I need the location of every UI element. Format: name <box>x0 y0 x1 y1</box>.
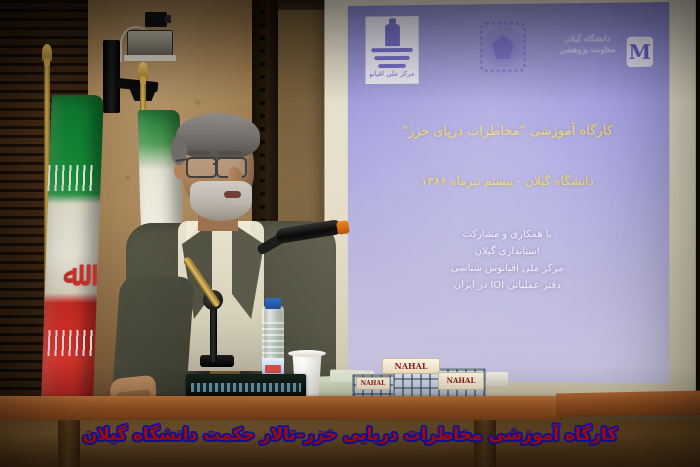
flag-finial <box>42 44 52 62</box>
microphone-tip <box>336 220 350 235</box>
glasses-lens-left <box>186 157 217 178</box>
table-top-right-section <box>556 390 700 417</box>
oceanography-logo-caption: مرکز ملی اقیانوس شناسی <box>369 68 414 81</box>
projector-bracket <box>103 40 120 113</box>
water-bottle-ribs <box>262 322 284 356</box>
water-bottle-cap <box>265 298 281 309</box>
credit-line: دفتر عملیاتی IOI در ایران <box>348 276 669 295</box>
nahal-brand-label: NAHAL <box>382 358 440 374</box>
wave-icon <box>378 64 406 68</box>
university-department: معاونت پژوهشی <box>551 44 624 56</box>
projector-body <box>127 30 173 58</box>
eyebrow-right <box>218 151 242 155</box>
projector-shelf <box>124 55 176 61</box>
wave-icon <box>371 48 412 52</box>
iran-emblem-icon: ﷲ <box>61 255 83 295</box>
glasses-bridge <box>213 163 218 165</box>
ornate-emblem-icon <box>480 22 526 72</box>
flag-kufic-band-bottom <box>48 330 97 356</box>
ioi-logo-caption: IOI <box>474 72 526 80</box>
university-logo-text: دانشگاه گیلان معاونت پژوهشی <box>551 33 624 56</box>
conference-photo: ﷲ ا مرکز ملی اقیانوس شناسی IOI <box>0 0 700 467</box>
oceanography-logo: مرکز ملی اقیانوس شناسی <box>365 16 418 84</box>
eyebrow-left <box>187 151 211 155</box>
beard <box>190 181 252 221</box>
credit-line: استانداری گیلان <box>348 243 669 261</box>
university-name: دانشگاه گیلان <box>551 33 624 45</box>
credits-heading: با همکاری و مشارکت <box>348 226 669 244</box>
photo-caption: کارگاه آموزشی مخاطرات دریایی خزر–تالار ح… <box>0 424 700 446</box>
flag-finial-secondary <box>138 62 148 80</box>
credit-line: مرکز ملی اقیانوس شناسی <box>348 259 669 277</box>
projection-screen-surface: مرکز ملی اقیانوس شناسی IOI دانشگاه گیلان… <box>348 2 669 384</box>
flag-kufic-band-top <box>48 165 97 191</box>
nahal-brand-label-small: NAHAL <box>356 377 390 390</box>
slide-subtitle: دانشگاه گیلان - بیستم تیرماه ۱۳۸۶ <box>348 172 669 190</box>
microphone-base <box>200 355 234 367</box>
white-object <box>486 372 508 386</box>
wave-icon <box>374 56 409 60</box>
camera-icon <box>145 12 167 27</box>
paper-cup-rim <box>288 350 326 357</box>
nahal-brand-label-side: NAHAL <box>438 372 484 390</box>
slide-credits: با همکاری و مشارکت استانداری گیلان مرکز … <box>348 226 669 295</box>
buoy-icon <box>385 24 400 46</box>
speaker-person <box>120 105 360 405</box>
ioi-emblem-logo: IOI <box>474 22 526 80</box>
slide-logo-row: مرکز ملی اقیانوس شناسی IOI دانشگاه گیلان… <box>348 2 669 101</box>
slide-title: کارگاه آموزشی "مخاطرات دریای خزر" <box>348 121 669 142</box>
projection-screen-frame: مرکز ملی اقیانوس شناسی IOI دانشگاه گیلان… <box>324 0 695 406</box>
mouth <box>224 191 241 198</box>
university-logo-mark <box>627 37 653 67</box>
desk-nameplate <box>186 374 306 398</box>
